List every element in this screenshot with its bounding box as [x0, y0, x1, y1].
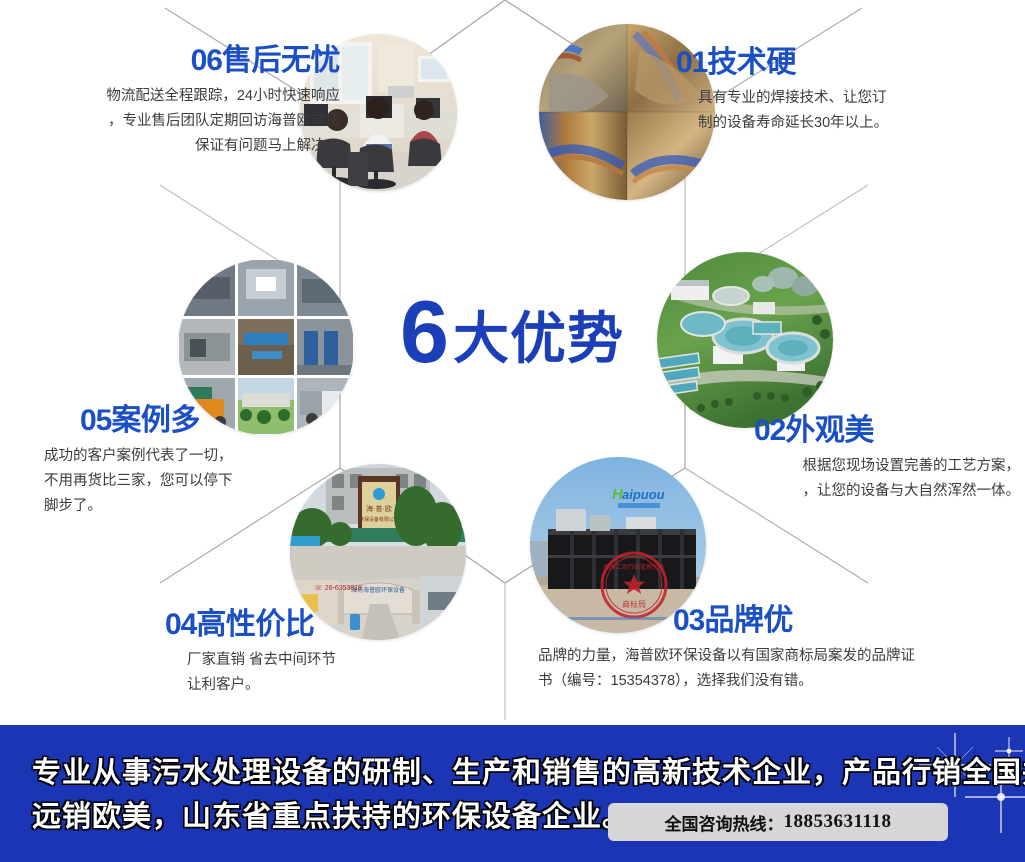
infographic-page: aipuou H 商标局 国家工商行政管理总局 — [0, 0, 1025, 862]
banner-line-1: 专业从事污水处理设备的研制、生产和销售的高新技术企业，产品行销全国并 — [32, 751, 892, 795]
svg-text:国家工商行政管理总局: 国家工商行政管理总局 — [604, 563, 664, 571]
feature-02: 02外观美 根据您现场设置完善的工艺方案， ，让您的设备与大自然浑然一体。 — [700, 414, 1020, 504]
feature-05: 05案例多 成功的客户案例代表了一切， 不用再货比三家，您可以停下 脚步了。 — [44, 404, 364, 519]
feature-04-title: 04高性价比 — [165, 608, 495, 642]
feature-01: 01技术硬 具有专业的焊接技术、让您订 制的设备寿命延长30年以上。 — [676, 46, 1006, 136]
feature-02-title-text: 外观美 — [785, 414, 874, 447]
svg-text:☏ 26-6353818: ☏ 26-6353818 — [314, 584, 362, 592]
feature-02-body-line-1: 根据您现场设置完善的工艺方案， — [700, 454, 1020, 479]
feature-05-body-line-1: 成功的客户案例代表了一切， — [44, 444, 364, 469]
feature-06-body-line-2: ，专业售后团队定期回访海普欧向您 — [20, 109, 340, 134]
feature-04-title-text: 高性价比 — [196, 608, 314, 641]
feature-03: 03品牌优 品牌的力量，海普欧环保设备以有国家商标局案发的品牌证 书（编号：15… — [538, 604, 1008, 694]
feature-05-title: 05案例多 — [44, 404, 364, 438]
center-title-number: 6 — [400, 282, 447, 381]
feature-04: 04高性价比 厂家直销 省去中间环节 让利客户。 — [165, 608, 495, 698]
feature-06-title-text: 售后无忧 — [222, 44, 340, 77]
feature-01-title-text: 技术硬 — [707, 46, 796, 79]
feature-05-number: 05 — [80, 404, 111, 437]
center-title: 6大优势 — [400, 288, 624, 376]
feature-06-body-line-3: 保证有问题马上解决。 — [20, 134, 340, 159]
feature-02-number: 02 — [754, 414, 785, 447]
svg-text:H: H — [612, 486, 624, 503]
feature-04-number: 04 — [165, 608, 196, 641]
svg-text:aipuou: aipuou — [622, 487, 665, 502]
feature-01-title: 01技术硬 — [676, 46, 1006, 80]
svg-text:海·普·欧: 海·普·欧 — [366, 504, 392, 513]
feature-03-number: 03 — [673, 604, 704, 637]
hotline-number: 18853631118 — [784, 811, 892, 833]
feature-06-body-line-1: 物流配送全程跟踪，24小时快速响应 — [20, 84, 340, 109]
feature-05-body-line-3: 脚步了。 — [44, 494, 364, 519]
feature-03-title: 03品牌优 — [538, 604, 1008, 638]
feature-01-number: 01 — [676, 46, 707, 79]
feature-03-body-line-2: 书（编号：15354378），选择我们没有错。 — [538, 669, 1008, 694]
feature-04-body-line-2: 让利客户。 — [187, 673, 495, 698]
feature-01-body-line-1: 具有专业的焊接技术、让您订 — [698, 86, 1006, 111]
feature-02-title: 02外观美 — [700, 414, 1020, 448]
feature-06-number: 06 — [191, 44, 222, 77]
feature-04-body-line-1: 厂家直销 省去中间环节 — [187, 648, 495, 673]
feature-03-title-text: 品牌优 — [704, 604, 793, 637]
brand-logo-mark: aipuou H — [612, 486, 665, 508]
feature-03-body-line-1: 品牌的力量，海普欧环保设备以有国家商标局案发的品牌证 — [538, 644, 1008, 669]
feature-05-title-text: 案例多 — [111, 404, 200, 437]
feature-02-body-line-2: ，让您的设备与大自然浑然一体。 — [700, 479, 1020, 504]
feature-01-body-line-2: 制的设备寿命延长30年以上。 — [698, 111, 1006, 136]
hotline-label: 全国咨询热线： — [665, 810, 784, 835]
center-title-suffix: 大优势 — [453, 307, 624, 370]
feature-06-title: 06售后无忧 — [20, 44, 340, 78]
hotline-box[interactable]: 全国咨询热线：18853631118 — [608, 803, 948, 841]
feature-05-body-line-2: 不用再货比三家，您可以停下 — [44, 469, 364, 494]
feature-06: 06售后无忧 物流配送全程跟踪，24小时快速响应 ，专业售后团队定期回访海普欧向… — [20, 44, 340, 159]
svg-text:环保设备有限公司: 环保设备有限公司 — [359, 516, 399, 523]
sewage-plant-aerial-photo — [657, 252, 833, 428]
bottom-banner: 专业从事污水处理设备的研制、生产和销售的高新技术企业，产品行销全国并 远销欧美，… — [0, 725, 1025, 862]
